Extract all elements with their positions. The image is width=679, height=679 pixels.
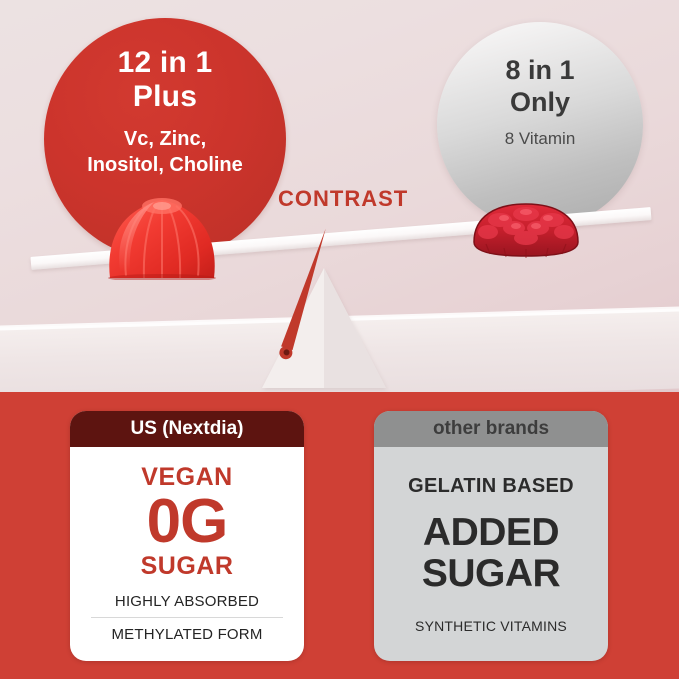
comparison-card-other-brands: other brands GELATIN BASED ADDED SUGAR S…: [374, 411, 608, 661]
left-card-note-2: METHYLATED FORM: [111, 626, 262, 643]
product-comparison-infographic: 12 in 1 Plus Vc, Zinc, Inositol, Choline…: [0, 0, 679, 679]
left-card-note-1: HIGHLY ABSORBED: [115, 593, 259, 610]
right-competitor-circle: 8 in 1 Only 8 Vitamin: [437, 22, 643, 228]
balance-scene: 12 in 1 Plus Vc, Zinc, Inositol, Choline…: [0, 0, 679, 392]
right-card-body: GELATIN BASED ADDED SUGAR SYNTHETIC VITA…: [374, 447, 608, 661]
comparison-card-us-nextdia: US (Nextdia) VEGAN 0G SUGAR HIGHLY ABSOR…: [70, 411, 304, 661]
right-circle-line-2: Only: [437, 86, 643, 118]
red-gummy-domed-icon: [104, 192, 220, 280]
right-card-header: other brands: [374, 411, 608, 447]
left-card-zero-grams: 0G: [147, 490, 228, 554]
right-card-note-1: SYNTHETIC VITAMINS: [415, 618, 567, 634]
right-circle-line-1: 8 in 1: [437, 54, 643, 86]
comparison-panel: US (Nextdia) VEGAN 0G SUGAR HIGHLY ABSOR…: [0, 392, 679, 679]
right-circle-text-block: 8 in 1 Only 8 Vitamin: [437, 54, 643, 150]
left-circle-line-4: Inositol, Choline: [44, 152, 286, 178]
contrast-label: CONTRAST: [278, 186, 408, 212]
left-card-body: VEGAN 0G SUGAR HIGHLY ABSORBED METHYLATE…: [70, 447, 304, 661]
left-card-divider: [91, 617, 283, 618]
left-circle-text-block: 12 in 1 Plus Vc, Zinc, Inositol, Choline: [44, 46, 286, 178]
red-gummy-flower-icon: [470, 200, 582, 258]
right-card-sugar-label: SUGAR: [422, 553, 560, 594]
right-card-added-label: ADDED: [423, 512, 559, 553]
right-card-gelatin-label: GELATIN BASED: [408, 475, 574, 498]
left-card-sugar-label: SUGAR: [141, 552, 234, 581]
left-circle-line-2: Plus: [44, 80, 286, 114]
balance-fulcrum-shadow: [324, 268, 386, 388]
left-card-header: US (Nextdia): [70, 411, 304, 447]
right-circle-line-3: 8 Vitamin: [437, 128, 643, 150]
left-circle-line-3: Vc, Zinc,: [44, 126, 286, 152]
left-circle-line-1: 12 in 1: [44, 46, 286, 80]
